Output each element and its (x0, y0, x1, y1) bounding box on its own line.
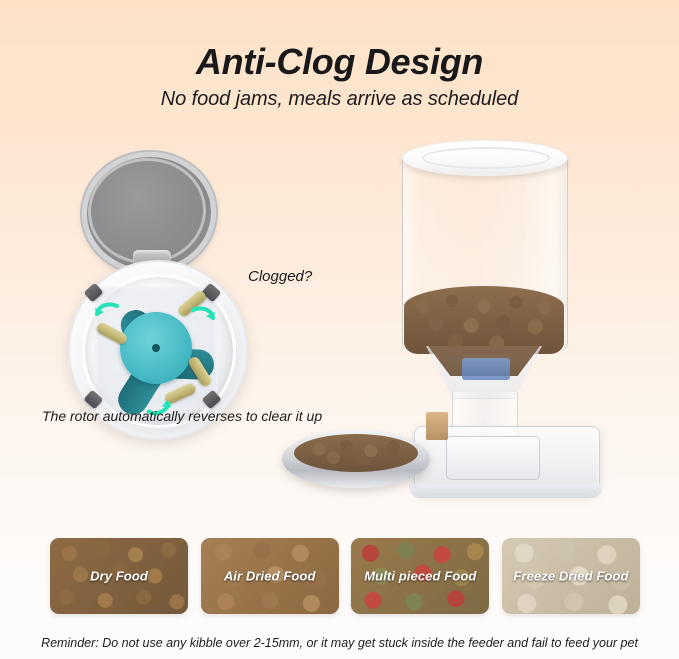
hopper-kibble (404, 286, 564, 354)
feeder-rotor-module (462, 358, 510, 380)
swatch-multi-pieced-food: Multi pieced Food (351, 538, 489, 614)
product-infographic: Anti-Clog Design No food jams, meals arr… (0, 0, 679, 659)
swatch-label: Freeze Dried Food (502, 569, 640, 584)
page-subtitle: No food jams, meals arrive as scheduled (0, 88, 679, 111)
bowl-kibble (294, 434, 418, 472)
pet-feeder-illustration (276, 140, 606, 505)
feeder-outlet-chute (426, 412, 448, 440)
feeder-base-window (446, 436, 540, 480)
swatch-label: Air Dried Food (201, 569, 339, 584)
swatch-air-dried-food: Air Dried Food (201, 538, 339, 614)
rotor-hub (152, 344, 160, 352)
swatch-dry-food: Dry Food (50, 538, 188, 614)
reminder-text: Reminder: Do not use any kibble over 2-1… (0, 636, 679, 650)
feeder-foot (410, 484, 602, 498)
reverse-arrow-icon (94, 302, 120, 322)
swatch-label: Dry Food (50, 569, 188, 584)
swatch-label: Multi pieced Food (351, 569, 489, 584)
swatch-freeze-dried-food: Freeze Dried Food (502, 538, 640, 614)
reverse-arrow-icon (190, 306, 216, 326)
page-title: Anti-Clog Design (0, 41, 679, 83)
feeder-lid-ring (422, 147, 550, 169)
food-type-swatches: Dry Food Air Dried Food Multi pieced Foo… (50, 538, 640, 614)
rotor-mechanism-illustration (60, 150, 270, 400)
